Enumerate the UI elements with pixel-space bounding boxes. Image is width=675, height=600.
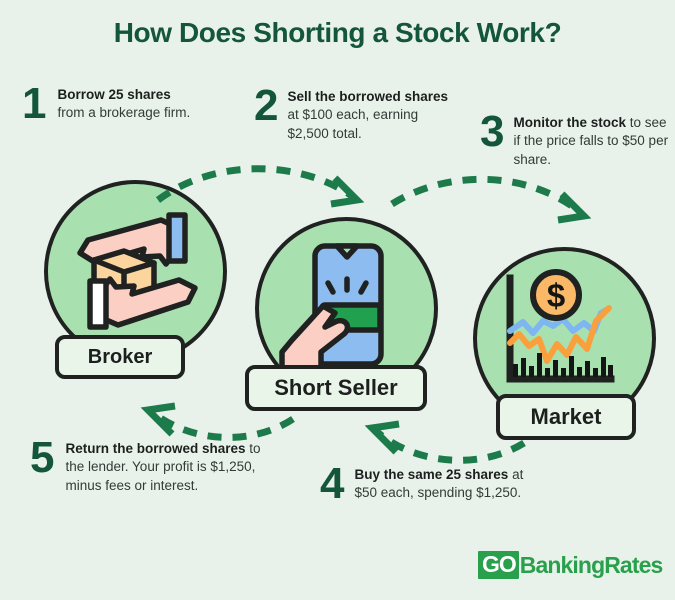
infographic-canvas: How Does Shorting a Stock Work? 1 Borrow… xyxy=(0,0,675,600)
arrowhead-seller-to-broker xyxy=(148,406,175,434)
arrowhead-market-to-seller xyxy=(372,424,399,452)
arrow-layer-heads xyxy=(0,0,675,600)
arrowhead-broker-to-seller xyxy=(331,178,357,204)
arrowhead-seller-to-market xyxy=(558,194,584,220)
